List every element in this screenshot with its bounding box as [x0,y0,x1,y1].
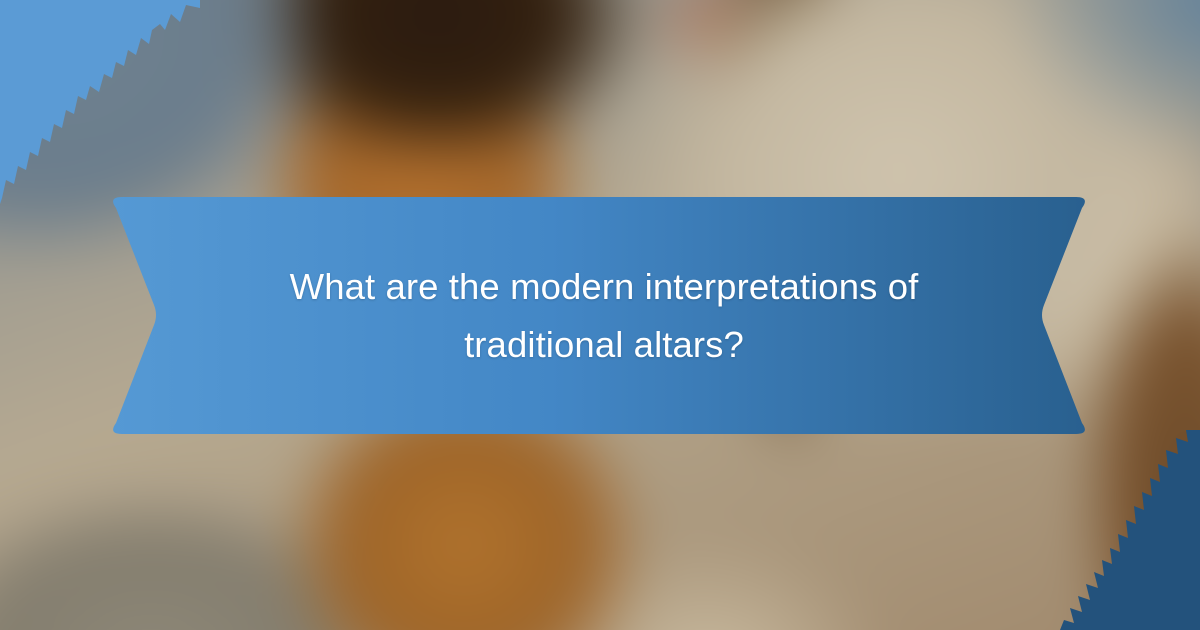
question-card: What are the modern interpretations of t… [0,0,1200,630]
question-ribbon: What are the modern interpretations of t… [108,197,1090,434]
page-title: What are the modern interpretations of t… [254,258,954,373]
ribbon-text-area: What are the modern interpretations of t… [108,197,1090,434]
